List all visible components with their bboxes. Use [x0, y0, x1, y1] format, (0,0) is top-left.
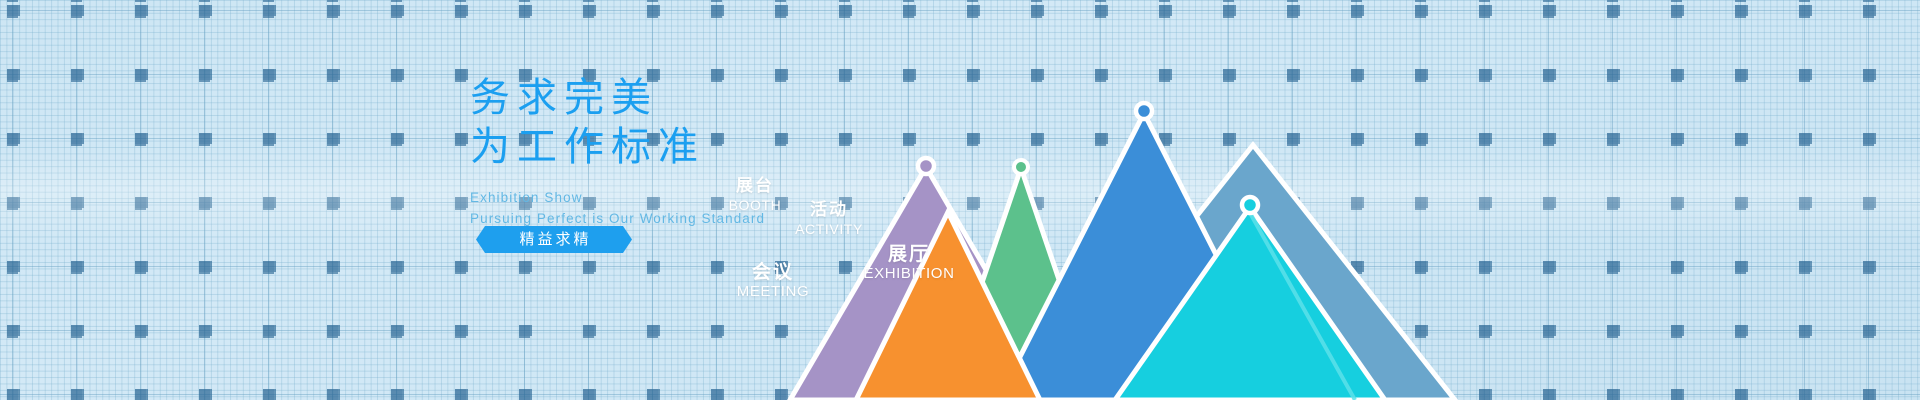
peak-exhibition-apex-marker	[1136, 103, 1152, 119]
promo-banner: 展台 BOOTH 活动 ACTIVITY 会议 MEETING 展厅 EXHIB…	[0, 0, 1920, 400]
peak-booth-apex-marker	[918, 158, 934, 174]
copy-block: 务求完美 为工作标准 Exhibition Show Pursuing Perf…	[470, 78, 890, 228]
cta-arrow-banner[interactable]: 精益求精	[476, 226, 632, 253]
peak-cyan-apex-marker	[1242, 197, 1258, 213]
headline-line-1: 务求完美	[470, 78, 890, 118]
subtitle-line-1: Exhibition Show	[470, 189, 890, 207]
cta-label: 精益求精	[516, 232, 591, 247]
headline-line-2: 为工作标准	[470, 127, 890, 167]
mountain-graphic	[0, 0, 1920, 400]
subtitle-line-2: Pursuing Perfect is Our Working Standard	[470, 210, 890, 228]
peak-activity-apex-marker	[1014, 160, 1028, 174]
